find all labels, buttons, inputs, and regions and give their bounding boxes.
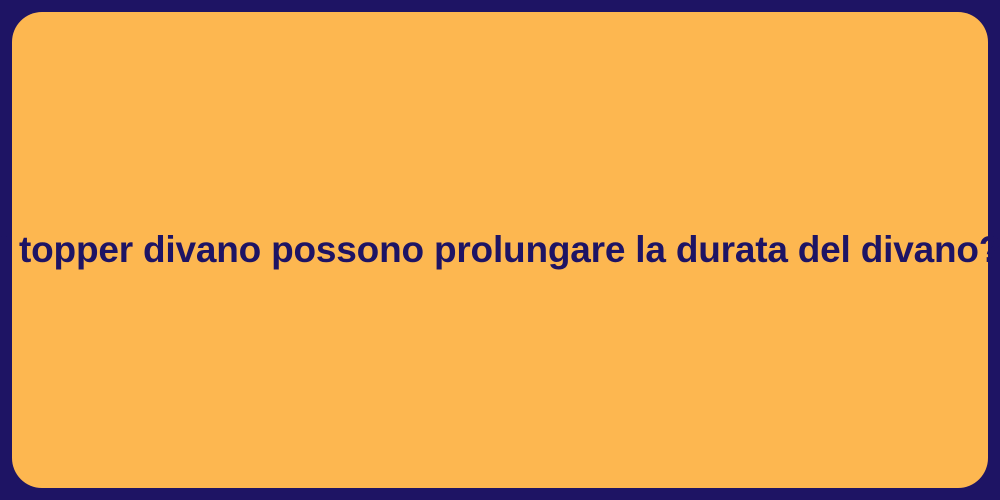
question-card-panel: I topper divano possono prolungare la du… [12,12,988,488]
question-heading: I topper divano possono prolungare la du… [0,227,1000,273]
question-card-frame: I topper divano possono prolungare la du… [0,0,1000,500]
